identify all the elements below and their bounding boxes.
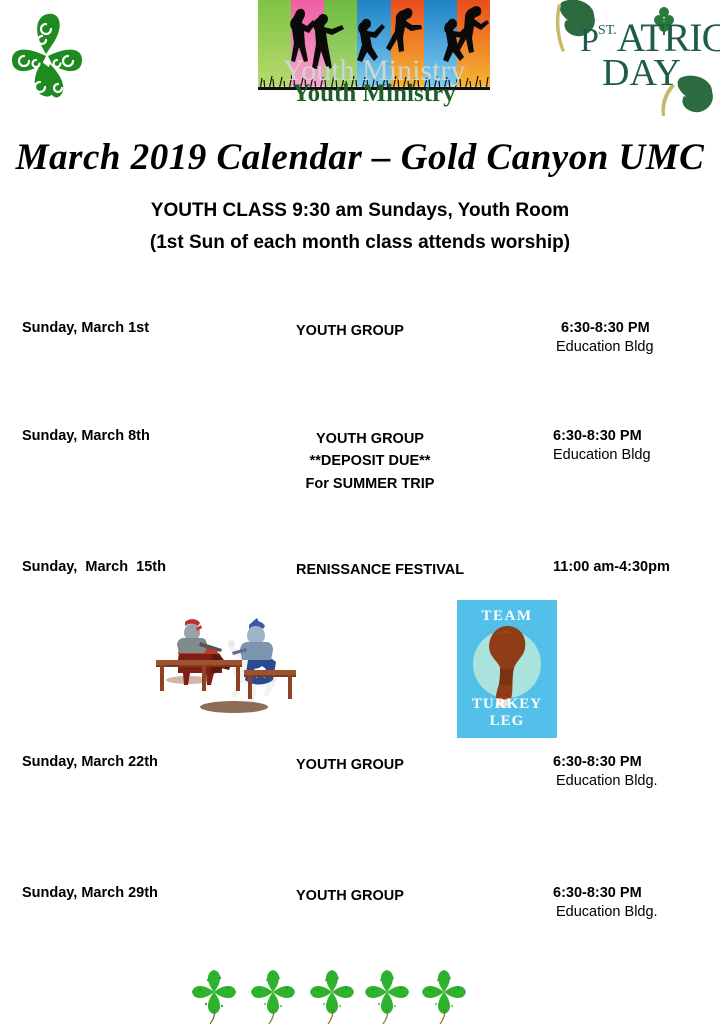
event-line: YOUTH GROUP <box>272 428 468 450</box>
event-date: Sunday, March 29th <box>22 885 158 901</box>
footer-clover-row <box>188 966 532 1024</box>
event-line: YOUTH GROUP <box>296 885 456 907</box>
event-time: 6:30-8:30 PM <box>561 320 654 337</box>
st-patricks-day-logo: PST.ATRICK'S DAY <box>552 0 720 118</box>
banner-title: Youth Ministry <box>258 80 490 108</box>
clover-icon <box>188 966 240 1024</box>
event-description: YOUTH GROUP <box>296 320 456 342</box>
event-line: YOUTH GROUP <box>296 320 456 342</box>
event-date: Sunday, March 15th <box>22 559 166 575</box>
turkey-leg-bottom-text: TURKEY LEG <box>457 696 557 730</box>
clover-icon <box>306 966 358 1024</box>
event-description: YOUTH GROUP <box>296 754 456 776</box>
event-location: Education Bldg <box>553 445 651 466</box>
event-location: Education Bldg <box>556 337 654 358</box>
event-time: 6:30-8:30 PM <box>553 754 658 771</box>
event-time-location: 11:00 am-4:30pm <box>553 559 670 576</box>
event-date: Sunday, March 1st <box>22 320 149 336</box>
team-turkey-leg-image: TEAM TURKEY LEG <box>456 599 558 739</box>
event-date: Sunday, March 8th <box>22 428 150 444</box>
event-time-location: 6:30-8:30 PM Education Bldg. <box>553 885 658 923</box>
event-time: 6:30-8:30 PM <box>553 428 651 445</box>
st-patricks-day-wordmark: PST.ATRICK'S DAY <box>580 18 720 92</box>
event-time: 6:30-8:30 PM <box>553 885 658 902</box>
event-description: YOUTH GROUP <box>296 885 456 907</box>
subtitle-line-1: YOUTH CLASS 9:30 am Sundays, Youth Room <box>0 200 720 222</box>
event-line: RENISSANCE FESTIVAL <box>296 559 496 581</box>
event-location: Education Bldg. <box>556 902 658 923</box>
page-title: March 2019 Calendar – Gold Canyon UMC <box>0 136 720 179</box>
event-time-location: 6:30-8:30 PM Education Bldg <box>556 320 654 358</box>
event-line: YOUTH GROUP <box>296 754 456 776</box>
youth-ministry-banner: Youth Ministry Youth Ministry <box>258 0 490 118</box>
event-description: RENISSANCE FESTIVAL <box>296 559 496 581</box>
event-time-location: 6:30-8:30 PM Education Bldg. <box>553 754 658 792</box>
clover-icon <box>247 966 299 1024</box>
event-description: YOUTH GROUP **DEPOSIT DUE** For SUMMER T… <box>272 428 468 495</box>
page-header: Youth Ministry Youth Ministry <box>0 0 720 125</box>
subtitle-line-2: (1st Sun of each month class attends wor… <box>0 232 720 254</box>
clover-icon <box>361 966 413 1024</box>
event-line: For SUMMER TRIP <box>272 473 468 495</box>
jousting-knights-image <box>152 608 298 716</box>
event-time-location: 6:30-8:30 PM Education Bldg <box>553 428 651 466</box>
event-location: Education Bldg. <box>556 771 658 792</box>
stp-st-label: ST. <box>598 23 617 38</box>
event-line: **DEPOSIT DUE** <box>272 450 468 472</box>
celtic-shamrock-icon <box>2 8 90 104</box>
clover-icon <box>418 966 470 1024</box>
event-date: Sunday, March 22th <box>22 754 158 770</box>
stp-letter-p: P <box>580 22 598 59</box>
event-time: 11:00 am-4:30pm <box>553 559 670 576</box>
